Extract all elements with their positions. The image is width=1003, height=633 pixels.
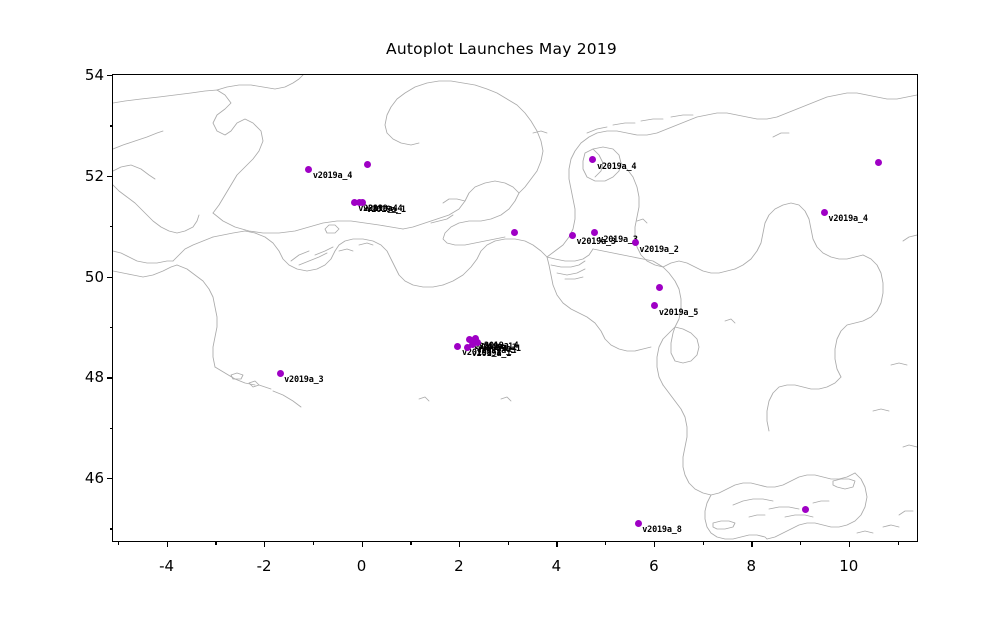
x-tick-label: 10 bbox=[839, 557, 858, 575]
scatter-point-label: v2019a_4 bbox=[597, 163, 636, 172]
scatter-point bbox=[821, 209, 828, 216]
x-tick-minor bbox=[898, 541, 899, 545]
scatter-point-label: v2019a_1 bbox=[366, 206, 405, 215]
x-tick-major bbox=[556, 541, 557, 547]
figure-canvas: Autoplot Launches May 2019 bbox=[0, 0, 1003, 633]
x-tick-major bbox=[849, 541, 850, 547]
scatter-point bbox=[305, 166, 312, 173]
scatter-point-label: v2019a_8 bbox=[642, 526, 681, 535]
scatter-point bbox=[875, 159, 882, 166]
x-tick-label: -2 bbox=[257, 557, 272, 575]
scatter-markers-layer: v2019a_4v2019a_4v2019a_4v2019a_1v2019a_3… bbox=[113, 75, 917, 541]
x-tick-major bbox=[751, 541, 752, 547]
x-tick-major bbox=[459, 541, 460, 547]
x-tick-label: 4 bbox=[552, 557, 562, 575]
scatter-point-label: v2019a_3 bbox=[284, 376, 323, 385]
scatter-point-label: v2019a_2 bbox=[639, 246, 678, 255]
x-tick-minor bbox=[508, 541, 509, 545]
scatter-point bbox=[277, 370, 284, 377]
y-tick-label: 50 bbox=[85, 268, 104, 286]
scatter-point-label: v2019a_4 bbox=[828, 215, 867, 224]
x-tick-minor bbox=[703, 541, 704, 545]
x-tick-label: 0 bbox=[357, 557, 367, 575]
x-axis: -4-20246810 bbox=[113, 541, 917, 542]
scatter-point-label: v2019a_4 bbox=[313, 172, 352, 181]
x-tick-minor bbox=[215, 541, 216, 545]
scatter-point bbox=[464, 344, 471, 351]
scatter-point bbox=[511, 229, 518, 236]
x-tick-major bbox=[654, 541, 655, 547]
x-tick-minor bbox=[605, 541, 606, 545]
x-tick-label: -4 bbox=[159, 557, 174, 575]
scatter-point bbox=[635, 520, 642, 527]
x-tick-label: 6 bbox=[649, 557, 659, 575]
scatter-point bbox=[802, 506, 809, 513]
x-tick-minor bbox=[118, 541, 119, 545]
x-tick-major bbox=[264, 541, 265, 547]
y-tick-label: 46 bbox=[85, 469, 104, 487]
plot-axes: v2019a_4v2019a_4v2019a_4v2019a_1v2019a_3… bbox=[112, 74, 918, 542]
scatter-point bbox=[569, 232, 576, 239]
x-tick-minor bbox=[313, 541, 314, 545]
x-tick-major bbox=[362, 541, 363, 547]
page-title: Autoplot Launches May 2019 bbox=[0, 40, 1003, 58]
x-tick-minor bbox=[800, 541, 801, 545]
scatter-point bbox=[454, 343, 461, 350]
y-tick-label: 54 bbox=[85, 66, 104, 84]
x-tick-label: 8 bbox=[747, 557, 757, 575]
y-tick-label: 52 bbox=[85, 167, 104, 185]
scatter-point bbox=[656, 284, 663, 291]
scatter-point bbox=[651, 302, 658, 309]
x-tick-label: 2 bbox=[454, 557, 464, 575]
x-tick-major bbox=[167, 541, 168, 547]
scatter-point bbox=[591, 229, 598, 236]
x-tick-minor bbox=[410, 541, 411, 545]
scatter-point-label: v2019a_5 bbox=[659, 309, 698, 318]
scatter-point bbox=[364, 161, 371, 168]
scatter-point-label: v2019a_1 bbox=[472, 350, 511, 359]
y-tick-label: 48 bbox=[85, 368, 104, 386]
scatter-point bbox=[589, 156, 596, 163]
scatter-point bbox=[632, 239, 639, 246]
